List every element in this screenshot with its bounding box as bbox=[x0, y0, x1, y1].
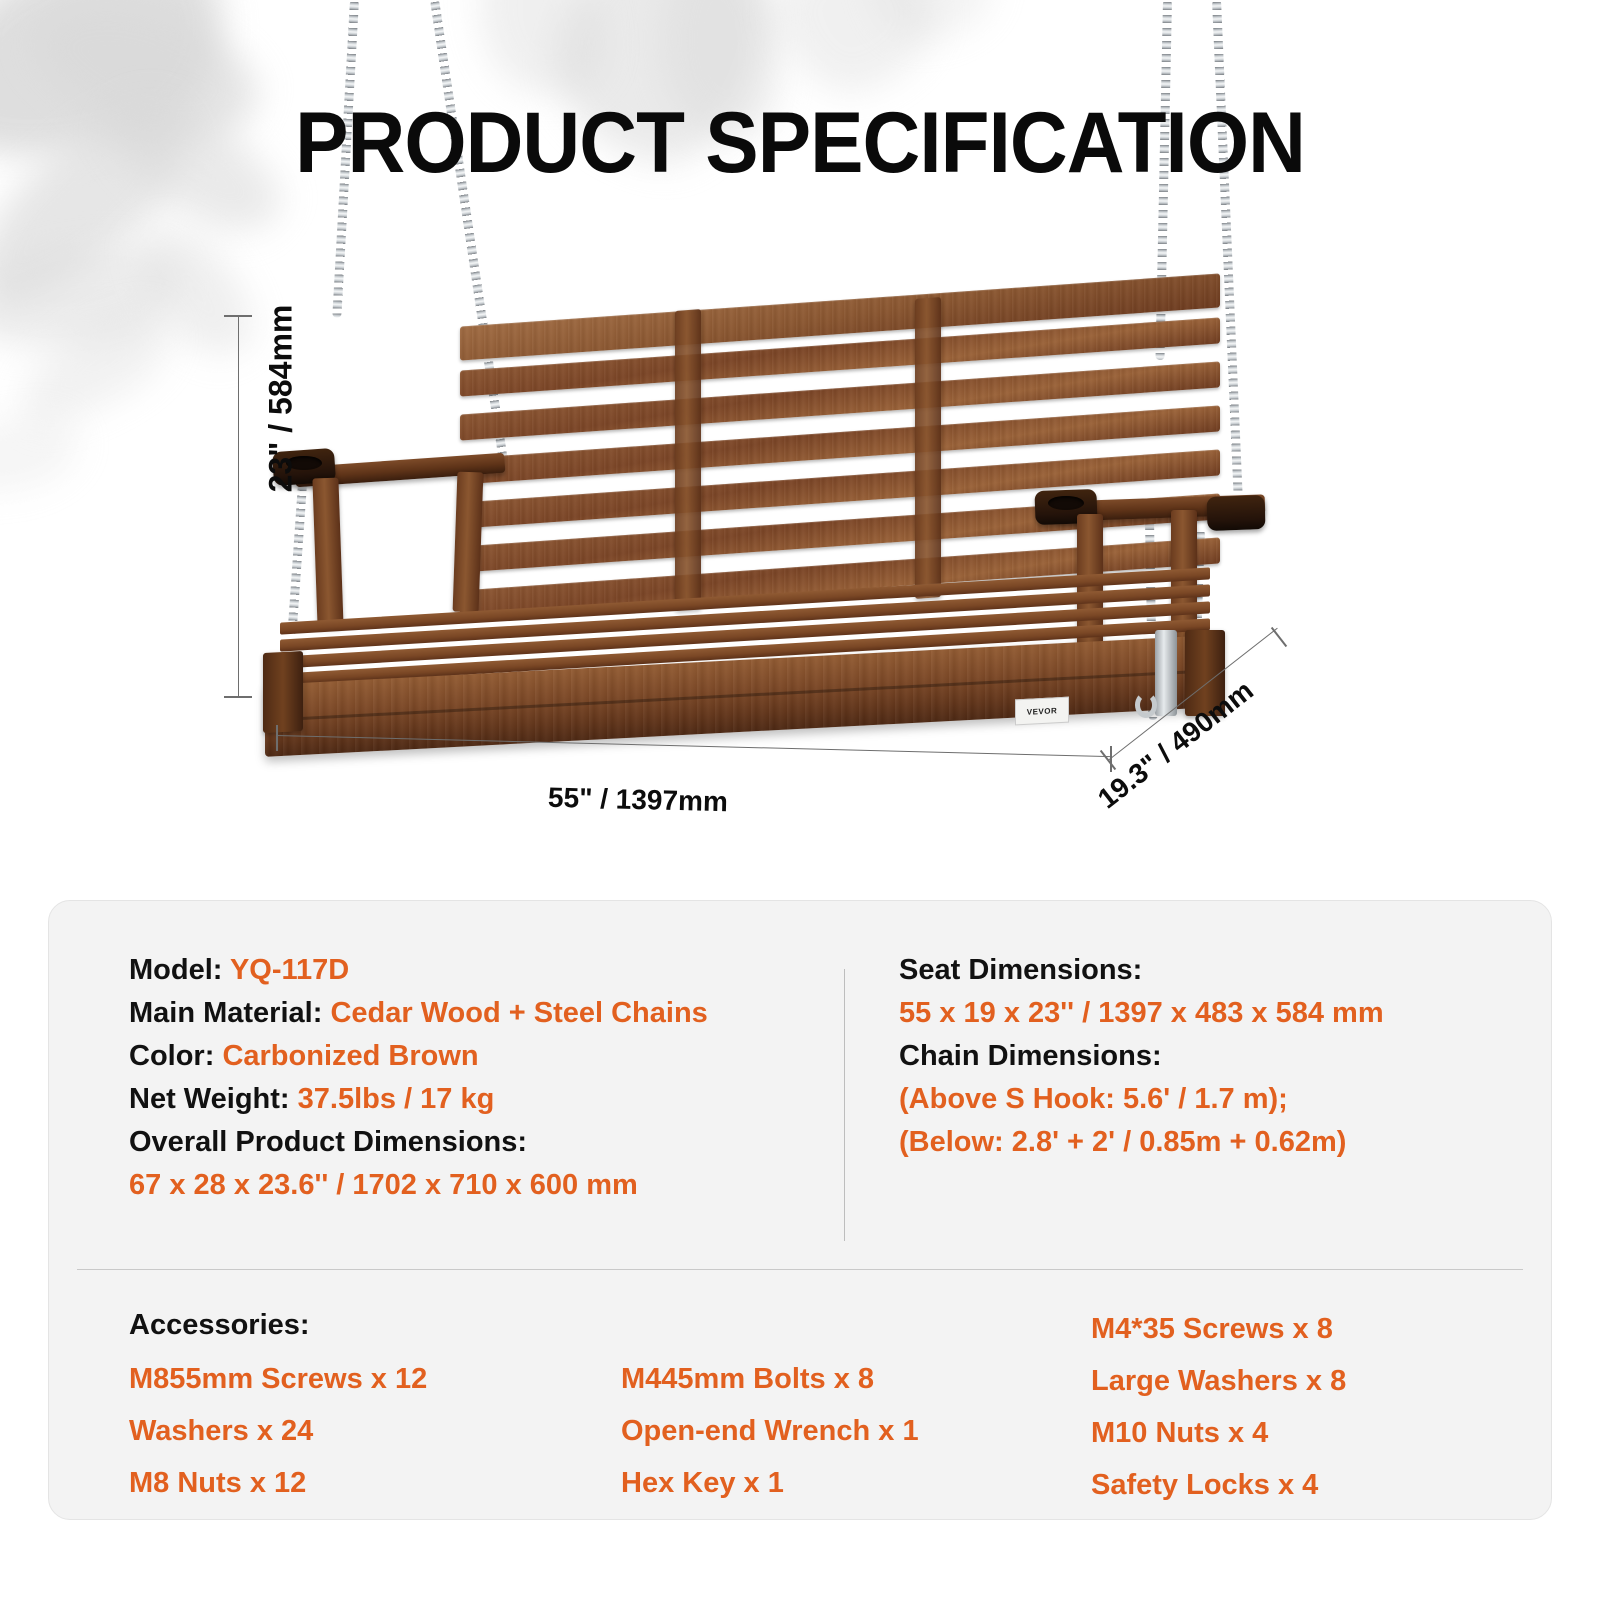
specification-panel: Model: YQ-117D Main Material: Cedar Wood… bbox=[48, 900, 1552, 1520]
spec-label: Model: bbox=[129, 954, 230, 986]
spec-row: Model: YQ-117D bbox=[129, 949, 708, 992]
accessory-item: M10 Nuts x 4 bbox=[1091, 1407, 1346, 1459]
accessory-item: Large Washers x 8 bbox=[1091, 1355, 1346, 1407]
spec-label: Net Weight: bbox=[129, 1083, 298, 1115]
spec-row: Net Weight: 37.5lbs / 17 kg bbox=[129, 1078, 708, 1121]
spec-label: Chain Dimensions: bbox=[899, 1040, 1162, 1072]
spec-row: Color: Carbonized Brown bbox=[129, 1035, 708, 1078]
dimension-width-label: 55" / 1397mm bbox=[548, 782, 729, 818]
accessories-section: Accessories: M855mm Screws x 12 Washers … bbox=[49, 1281, 1551, 1521]
spec-label: Seat Dimensions: bbox=[899, 954, 1142, 986]
accessory-item: M8 Nuts x 12 bbox=[129, 1457, 427, 1509]
accessory-item: M445mm Bolts x 8 bbox=[621, 1353, 919, 1405]
brand-label: VEVOR bbox=[1015, 697, 1069, 726]
spec-column-right: Seat Dimensions: 55 x 19 x 23'' / 1397 x… bbox=[899, 949, 1384, 1164]
dimension-tick bbox=[224, 696, 252, 698]
vertical-divider bbox=[844, 969, 845, 1241]
accessory-item: Open-end Wrench x 1 bbox=[621, 1405, 919, 1457]
horizontal-divider bbox=[77, 1269, 1523, 1270]
spec-value: 37.5lbs / 17 kg bbox=[298, 1083, 495, 1115]
specification-top: Model: YQ-117D Main Material: Cedar Wood… bbox=[49, 901, 1551, 1269]
seat-end-cap-left bbox=[263, 651, 303, 733]
dimension-height-label: 23" / 584mm bbox=[263, 269, 300, 529]
accessories-column-2: M445mm Bolts x 8 Open-end Wrench x 1 Hex… bbox=[621, 1353, 919, 1509]
accessory-item: Washers x 24 bbox=[129, 1405, 427, 1457]
accessory-item: Safety Locks x 4 bbox=[1091, 1459, 1346, 1511]
spec-value: Cedar Wood + Steel Chains bbox=[330, 997, 707, 1029]
spec-row: 55 x 19 x 23'' / 1397 x 483 x 584 mm bbox=[899, 992, 1384, 1035]
accessory-item: Hex Key x 1 bbox=[621, 1457, 919, 1509]
spec-row: Seat Dimensions: bbox=[899, 949, 1384, 992]
page-title: PRODUCT SPECIFICATION bbox=[56, 100, 1544, 186]
dimension-tick bbox=[224, 315, 252, 317]
spec-row: Chain Dimensions: bbox=[899, 1035, 1384, 1078]
spec-row: (Below: 2.8' + 2' / 0.85m + 0.62m) bbox=[899, 1121, 1384, 1164]
accessory-item: M855mm Screws x 12 bbox=[129, 1353, 427, 1405]
spec-label: Main Material: bbox=[129, 997, 330, 1029]
s-hook-icon bbox=[1135, 692, 1157, 718]
accessories-heading: Accessories: bbox=[129, 1309, 310, 1342]
spec-label: Overall Product Dimensions: bbox=[129, 1126, 527, 1158]
backrest-support bbox=[675, 309, 701, 611]
product-spec-page: PRODUCT SPECIFICATION bbox=[0, 0, 1600, 1600]
backrest-support bbox=[915, 297, 941, 599]
spec-label: Color: bbox=[129, 1040, 222, 1072]
spec-column-left: Model: YQ-117D Main Material: Cedar Wood… bbox=[129, 949, 708, 1207]
accessories-column-3: M4*35 Screws x 8 Large Washers x 8 M10 N… bbox=[1091, 1303, 1346, 1511]
mounting-bracket bbox=[1155, 630, 1177, 716]
spec-row: 67 x 28 x 23.6'' / 1702 x 710 x 600 mm bbox=[129, 1164, 708, 1207]
dimension-line bbox=[238, 315, 239, 697]
spec-row: Overall Product Dimensions: bbox=[129, 1121, 708, 1164]
spec-row: Main Material: Cedar Wood + Steel Chains bbox=[129, 992, 708, 1035]
spec-value: Carbonized Brown bbox=[222, 1040, 478, 1072]
dimension-tick bbox=[276, 725, 278, 751]
armrest-left-leg bbox=[453, 472, 484, 613]
porch-swing-bench: VEVOR bbox=[255, 300, 1285, 750]
armrest-right-end bbox=[1206, 495, 1265, 531]
cup-holder-right bbox=[1048, 496, 1084, 510]
spec-row: (Above S Hook: 5.6' / 1.7 m); bbox=[899, 1078, 1384, 1121]
accessories-column-1: M855mm Screws x 12 Washers x 24 M8 Nuts … bbox=[129, 1353, 427, 1509]
armrest-left-leg bbox=[312, 478, 343, 629]
spec-value: YQ-117D bbox=[230, 954, 349, 986]
accessory-item: M4*35 Screws x 8 bbox=[1091, 1303, 1346, 1355]
